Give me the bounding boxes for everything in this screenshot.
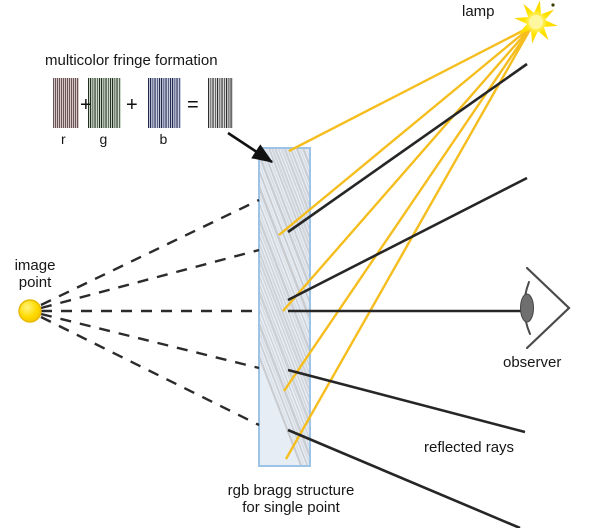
virtual-ray-2 <box>41 250 259 308</box>
diagram-canvas: ++= rgb multicolor fringe formation lamp… <box>0 0 600 528</box>
fringe-block-b <box>148 78 181 128</box>
fringe-operator-plus-1: + <box>80 94 92 117</box>
fringe-block-label-r: r <box>61 132 66 148</box>
reflected-rays-label: reflected rays <box>424 440 514 457</box>
image-point-label: image point <box>4 258 66 292</box>
observer-eye-icon <box>521 268 570 348</box>
fringe-operator-plus-2: + <box>126 94 138 117</box>
fringe-operator-equals: = <box>187 94 199 117</box>
image-point-marker <box>19 300 41 322</box>
fringe-block-label-b: b <box>160 132 168 148</box>
virtual-rays-group <box>41 200 259 425</box>
bragg-structure-label-line2: for single point <box>198 500 384 517</box>
reflected-ray-4 <box>288 370 525 432</box>
bragg-structure-label-line1: rgb bragg structure <box>198 483 384 500</box>
fringe-formation-title: multicolor fringe formation <box>45 53 218 70</box>
fringe-block-label-g: g <box>100 132 108 148</box>
reflected-ray-2 <box>288 178 527 300</box>
incident-rays-group <box>279 26 532 459</box>
lamp-label: lamp <box>462 4 495 21</box>
incident-ray-2 <box>279 26 532 235</box>
fringe-block-sum <box>208 78 233 128</box>
virtual-ray-4 <box>41 314 259 368</box>
fringe-block-g <box>88 78 121 128</box>
incident-ray-5 <box>286 26 532 459</box>
virtual-ray-5 <box>41 317 259 425</box>
fringe-block-r <box>53 78 79 128</box>
virtual-ray-1 <box>41 200 259 305</box>
incident-ray-3 <box>283 26 532 311</box>
observer-label: observer <box>503 355 561 372</box>
